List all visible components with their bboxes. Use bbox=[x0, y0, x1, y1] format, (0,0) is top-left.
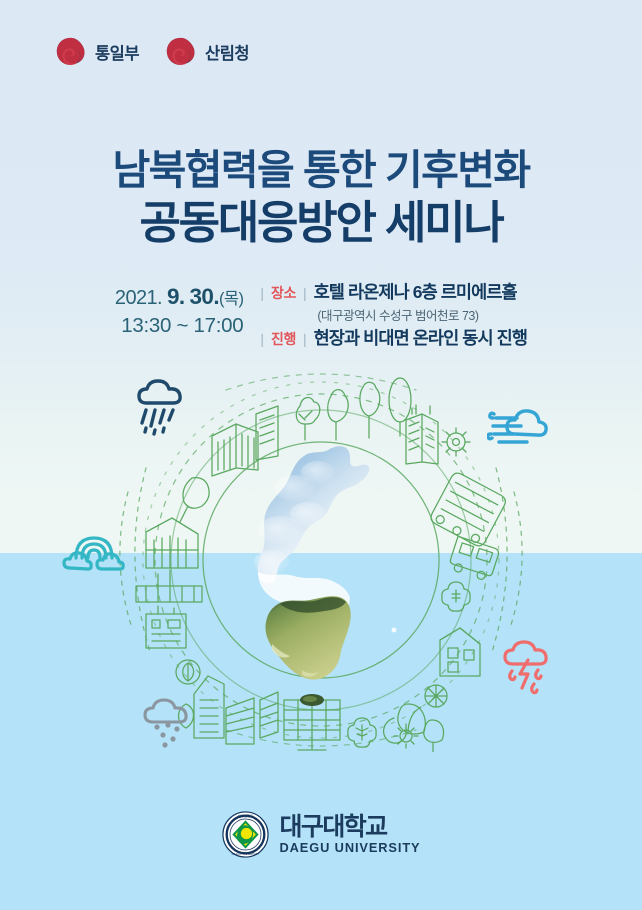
event-date-line: 2021. 9. 30.(목) bbox=[115, 282, 243, 312]
gov-logo-unification: 통일부 bbox=[55, 36, 139, 67]
event-time: 13:30 ~ 17:00 bbox=[115, 312, 243, 339]
taegeuk-emblem-icon bbox=[165, 36, 196, 67]
university-name-block: 대구대학교 DAEGU UNIVERSITY bbox=[280, 815, 421, 855]
event-venue-address: (대구광역시 수성구 범어천로 73) bbox=[260, 305, 527, 324]
government-logo-row: 통일부 산림청 bbox=[55, 36, 249, 67]
headline-line-2: 공동대응방안 세미나 bbox=[0, 196, 642, 250]
rainbow-cloud-icon bbox=[62, 528, 126, 572]
event-datetime-block: 2021. 9. 30.(목) 13:30 ~ 17:00 bbox=[115, 281, 243, 339]
event-detail-block: | 장소 | 호텔 라온제나 6층 르미에르홀 (대구광역시 수성구 범어천로 … bbox=[260, 281, 527, 350]
gov-logo-forest-service: 산림청 bbox=[165, 36, 249, 67]
bar-right-icon: | bbox=[303, 284, 307, 302]
university-footer: 대구대학교 DAEGU UNIVERSITY 대구대학교 DAEGU UNIVE… bbox=[0, 811, 642, 858]
university-name-en: DAEGU UNIVERSITY bbox=[280, 842, 421, 855]
wind-cloud-icon bbox=[487, 404, 549, 448]
event-format-tag: 진행 bbox=[271, 330, 296, 348]
bar-left-icon: | bbox=[260, 330, 264, 348]
bar-left-icon: | bbox=[260, 284, 264, 302]
thunderstorm-icon bbox=[500, 638, 554, 696]
gov-logo-label: 산림청 bbox=[205, 40, 249, 64]
gov-logo-label: 통일부 bbox=[95, 40, 139, 64]
event-format-row: | 진행 | 현장과 비대면 온라인 동시 진행 bbox=[260, 327, 527, 350]
event-date-month: 9. bbox=[167, 284, 185, 309]
svg-text:대구대학교: 대구대학교 bbox=[237, 814, 252, 819]
event-date-day: 30. bbox=[190, 284, 219, 309]
event-venue-row: | 장소 | 호텔 라온제나 6층 르미에르홀 bbox=[260, 281, 527, 304]
seminar-poster: 통일부 산림청 남북협력을 통한 기후변화 공동대응방안 세미나 2021. 9… bbox=[0, 0, 642, 910]
snow-cloud-icon bbox=[140, 696, 194, 750]
event-venue-value: 호텔 라온제나 6층 르미에르홀 bbox=[314, 281, 517, 304]
daegu-university-seal-icon: 대구대학교 DAEGU UNIVERSITY bbox=[222, 811, 269, 858]
event-info-band: 2021. 9. 30.(목) 13:30 ~ 17:00 | 장소 | 호텔 … bbox=[0, 281, 642, 350]
event-date-dow: (목) bbox=[219, 290, 243, 308]
university-name-kr: 대구대학교 bbox=[280, 815, 421, 840]
event-format-value: 현장과 비대면 온라인 동시 진행 bbox=[314, 327, 527, 350]
poster-headline: 남북협력을 통한 기후변화 공동대응방안 세미나 bbox=[0, 146, 642, 250]
event-date-year: 2021. bbox=[115, 287, 162, 309]
svg-text:DAEGU UNIVERSITY: DAEGU UNIVERSITY bbox=[231, 852, 259, 856]
taegeuk-emblem-icon bbox=[55, 36, 86, 67]
bar-right-icon: | bbox=[303, 330, 307, 348]
event-venue-tag: 장소 bbox=[271, 284, 296, 302]
headline-line-1: 남북협력을 통한 기후변화 bbox=[0, 146, 642, 194]
rain-cloud-icon bbox=[133, 378, 189, 436]
